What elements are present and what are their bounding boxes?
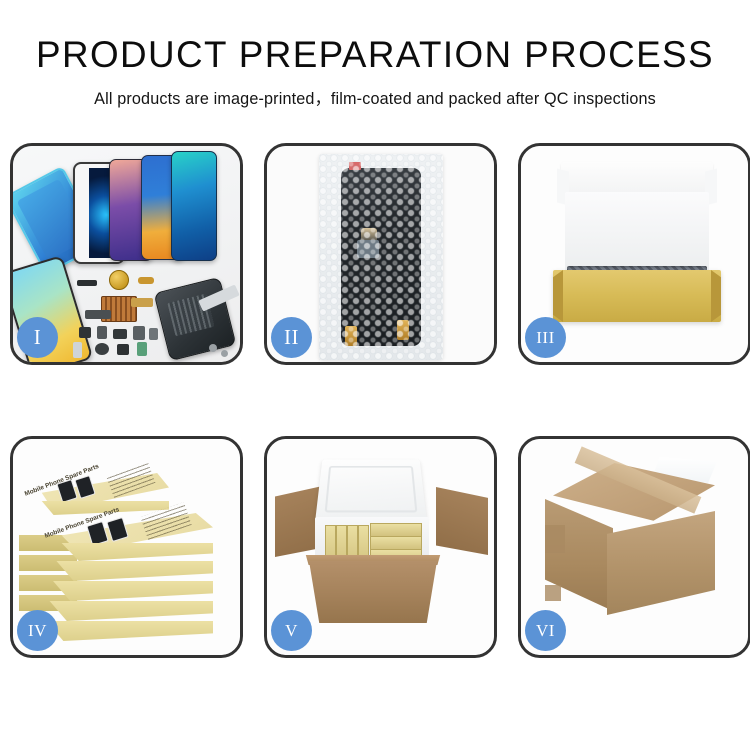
step-panel-1[interactable]: I xyxy=(10,143,243,365)
bubble-wrap-bag xyxy=(319,154,443,360)
step-badge-6: VI xyxy=(525,610,566,651)
gold-box-inside xyxy=(370,536,422,550)
carton-body xyxy=(309,561,437,623)
product-preparation-infographic: PRODUCT PREPARATION PROCESS All products… xyxy=(0,0,750,750)
step-badge-4: IV xyxy=(17,610,58,651)
step-panel-5[interactable]: V xyxy=(264,436,497,658)
gold-box-face xyxy=(21,501,169,515)
bubble-texture-offset xyxy=(319,154,443,360)
gold-box-inside xyxy=(370,523,422,537)
page-title: PRODUCT PREPARATION PROCESS xyxy=(2,0,748,73)
header: PRODUCT PREPARATION PROCESS All products… xyxy=(0,0,750,109)
page-subtitle: All products are image-printed，film-coat… xyxy=(0,73,750,109)
gold-box-face xyxy=(41,621,213,641)
battery-part xyxy=(137,342,147,356)
spare-part xyxy=(117,344,129,355)
step-panel-3[interactable]: III xyxy=(518,143,750,365)
spare-part xyxy=(149,328,158,340)
step-badge-1: I xyxy=(17,317,58,358)
sim-tray-part xyxy=(73,342,82,358)
step-panel-2[interactable]: II xyxy=(264,143,497,365)
step-badge-5: V xyxy=(271,610,312,651)
step-badge-3: III xyxy=(525,317,566,358)
carton-seam xyxy=(545,525,565,553)
carton-flap-right xyxy=(436,487,488,555)
step-badge-2: II xyxy=(271,317,312,358)
gold-coin-part xyxy=(109,270,129,290)
spare-part xyxy=(131,298,153,307)
carton-front-face xyxy=(607,511,715,615)
spare-part xyxy=(138,277,154,284)
gold-box-face xyxy=(41,601,213,621)
spare-part xyxy=(95,343,109,355)
foam-backing xyxy=(565,192,709,272)
carton-seam xyxy=(545,585,561,601)
foam-lid-open xyxy=(315,459,427,520)
spare-part xyxy=(97,326,107,339)
screw-part xyxy=(221,350,228,357)
step-panel-6[interactable]: VI xyxy=(518,436,750,658)
phone-teal xyxy=(171,151,217,261)
spare-part xyxy=(133,326,145,340)
spare-part xyxy=(79,327,91,338)
gold-box-base xyxy=(553,270,721,322)
step-panel-4[interactable]: Mobile Phone Spare Parts Mobile Phone Sp… xyxy=(10,436,243,658)
spare-part xyxy=(77,280,97,286)
screw-part xyxy=(209,344,217,352)
spare-part xyxy=(85,310,111,319)
spare-part xyxy=(113,329,127,339)
steps-grid: I II xyxy=(10,143,740,680)
